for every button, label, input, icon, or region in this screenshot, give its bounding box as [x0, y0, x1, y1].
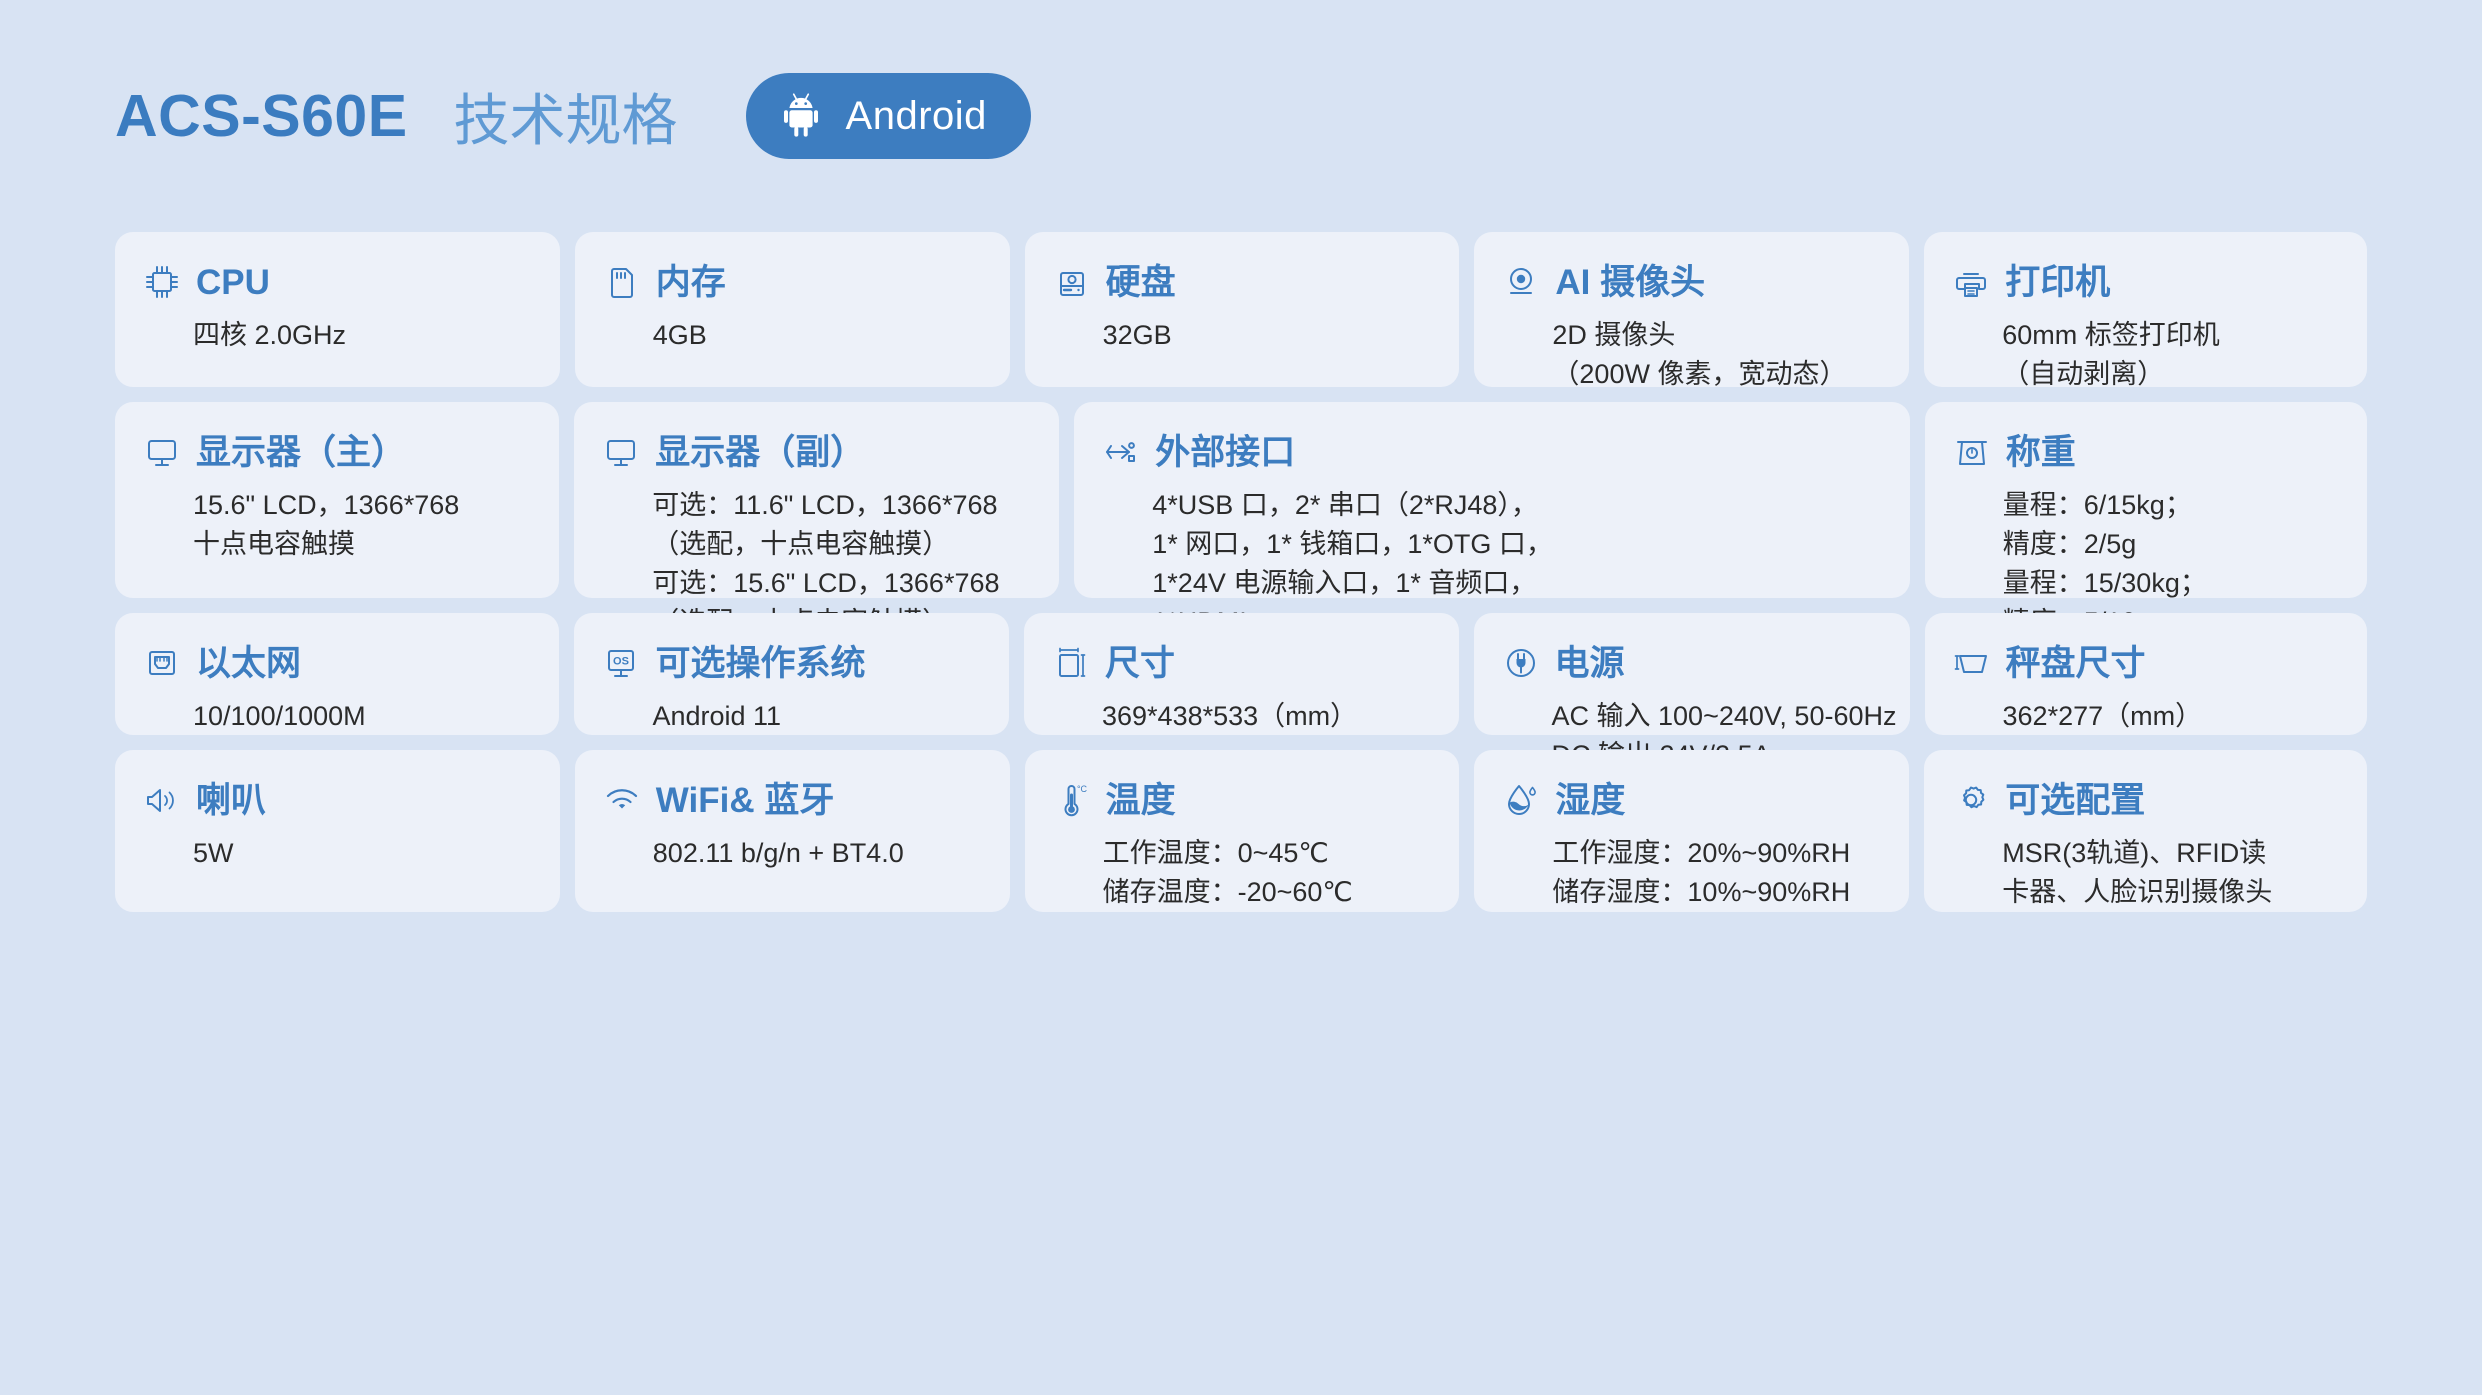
spec-card-optional-config: 可选配置 MSR(3轨道)、RFID读 卡器、人脸识别摄像头 — [1924, 750, 2367, 912]
card-title: 湿度 — [1555, 783, 1625, 818]
spec-line: 储存温度：-20~60℃ — [1103, 873, 1434, 912]
spec-card-temperature: °C 温度 工作温度：0~45℃ 储存温度：-20~60℃ — [1025, 750, 1460, 912]
spec-line: 10/100/1000M — [193, 697, 533, 736]
card-title: WiFi& 蓝牙 — [656, 783, 835, 818]
spec-card-weighing: 称重 量程：6/15kg； 精度：2/5g 量程：15/30kg； 精度：5/1… — [1925, 402, 2367, 598]
spec-line: MSR(3轨道)、RFID读 — [2002, 834, 2341, 873]
card-body: 4GB — [601, 316, 984, 355]
spec-line: 4*USB 口，2* 串口（2*RJ48）， — [1152, 486, 1883, 525]
os-screen-icon: OS — [600, 642, 642, 684]
android-icon — [784, 90, 828, 143]
card-title: 内存 — [656, 265, 726, 300]
card-header: AI 摄像头 — [1500, 258, 1883, 306]
card-body: 5W — [141, 834, 534, 873]
card-body: 15.6" LCD，1366*768 十点电容触摸 — [141, 486, 533, 564]
spec-line: 量程：6/15kg； — [2003, 486, 2341, 525]
card-title: 外部接口 — [1155, 435, 1295, 470]
spec-line: 60mm 标签打印机 — [2002, 316, 2341, 355]
card-body: 10/100/1000M — [141, 697, 533, 736]
spec-line: 5W — [193, 834, 534, 873]
card-header: 电源 — [1500, 639, 1884, 687]
card-title: 以太网 — [196, 646, 301, 681]
card-body: MSR(3轨道)、RFID读 卡器、人脸识别摄像头 — [1950, 834, 2341, 912]
hard-disk-icon — [1051, 261, 1093, 303]
spec-line: Android 11 — [652, 697, 983, 736]
card-body: 工作湿度：20%~90%RH 储存湿度：10%~90%RH — [1500, 834, 1883, 912]
spec-card-printer: 打印机 60mm 标签打印机 （自动剥离） — [1924, 232, 2367, 387]
spec-line: 精度：2/5g — [2003, 525, 2341, 564]
speaker-icon — [141, 779, 183, 821]
spec-row-1: CPU 四核 2.0GHz 内存 4GB — [115, 232, 2367, 387]
card-header: 外部接口 — [1100, 428, 1883, 476]
memory-card-icon — [601, 261, 643, 303]
spec-line: 2D 摄像头 — [1552, 316, 1883, 355]
card-header: 可选配置 — [1950, 776, 2341, 824]
spec-line: 四核 2.0GHz — [193, 316, 534, 355]
card-header: 称重 — [1951, 428, 2341, 476]
card-title: 可选配置 — [2005, 783, 2145, 818]
spec-card-power: 电源 AC 输入 100~240V, 50-60Hz DC 输出 24V/2.5… — [1474, 613, 1910, 735]
card-body: 802.11 b/g/n + BT4.0 — [601, 834, 984, 873]
spec-line: （自动剥离） — [2002, 355, 2341, 394]
cpu-chip-icon — [141, 261, 183, 303]
card-body: 2D 摄像头 （200W 像素，宽动态） — [1500, 316, 1883, 394]
power-plug-icon — [1500, 642, 1542, 684]
spec-line: 工作湿度：20%~90%RH — [1552, 834, 1883, 873]
spec-card-camera: AI 摄像头 2D 摄像头 （200W 像素，宽动态） — [1474, 232, 1909, 387]
spec-line: 工作温度：0~45℃ — [1103, 834, 1434, 873]
camera-icon — [1500, 261, 1542, 303]
dimensions-icon — [1050, 642, 1092, 684]
svg-text:OS: OS — [614, 656, 630, 668]
spec-row-2: 显示器（主） 15.6" LCD，1366*768 十点电容触摸 显示器（副） … — [115, 402, 2367, 598]
page-subtitle: 技术规格 — [454, 76, 678, 157]
os-badge-label: Android — [846, 94, 987, 139]
card-title: 称重 — [2006, 435, 2076, 470]
spec-line: （选配，十点电容触摸） — [652, 525, 1033, 564]
spec-line: 369*438*533（mm） — [1102, 697, 1433, 736]
os-badge: Android — [746, 73, 1031, 159]
spec-line: 1* 网口，1* 钱箱口，1*OTG 口， — [1152, 525, 1883, 564]
page-title: ACS-S60E — [115, 82, 408, 150]
spec-line: 15.6" LCD，1366*768 — [193, 486, 533, 525]
spec-card-ethernet: 以太网 10/100/1000M — [115, 613, 559, 735]
spec-card-os: OS 可选操作系统 Android 11 — [574, 613, 1009, 735]
svg-text:°C: °C — [1077, 784, 1088, 794]
weighing-scale-icon — [1951, 431, 1993, 473]
spec-card-speaker: 喇叭 5W — [115, 750, 560, 912]
scale-pan-icon — [1951, 642, 1993, 684]
spec-card-wireless: WiFi& 蓝牙 802.11 b/g/n + BT4.0 — [575, 750, 1010, 912]
card-body: 32GB — [1051, 316, 1434, 355]
monitor-icon — [141, 431, 183, 473]
card-title: 喇叭 — [196, 783, 266, 818]
wifi-icon — [601, 779, 643, 821]
spec-card-scale-pan: 秤盘尺寸 362*277（mm） — [1925, 613, 2367, 735]
card-title: CPU — [196, 265, 270, 300]
card-title: 温度 — [1106, 783, 1176, 818]
spec-line: 802.11 b/g/n + BT4.0 — [653, 834, 984, 873]
spec-card-memory: 内存 4GB — [575, 232, 1010, 387]
card-title: AI 摄像头 — [1555, 265, 1705, 300]
card-title: 打印机 — [2005, 265, 2110, 300]
card-header: 湿度 — [1500, 776, 1883, 824]
card-header: 打印机 — [1950, 258, 2341, 306]
spec-line: 储存湿度：10%~90%RH — [1552, 873, 1883, 912]
card-header: 喇叭 — [141, 776, 534, 824]
spec-card-secondary-display: 显示器（副） 可选：11.6" LCD，1366*768 （选配，十点电容触摸）… — [574, 402, 1059, 598]
card-header: WiFi& 蓝牙 — [601, 776, 984, 824]
card-header: 以太网 — [141, 639, 533, 687]
card-body: 60mm 标签打印机 （自动剥离） — [1950, 316, 2341, 394]
spec-card-dimensions: 尺寸 369*438*533（mm） — [1024, 613, 1459, 735]
thermometer-icon: °C — [1051, 779, 1093, 821]
card-title: 尺寸 — [1105, 646, 1175, 681]
spec-line: 4GB — [653, 316, 984, 355]
ethernet-port-icon — [141, 642, 183, 684]
spec-card-external-ports: 外部接口 4*USB 口，2* 串口（2*RJ48）， 1* 网口，1* 钱箱口… — [1074, 402, 1909, 598]
spec-line: 32GB — [1103, 316, 1434, 355]
spec-line: 1*24V 电源输入口，1* 音频口， — [1152, 564, 1883, 603]
spec-line: 卡器、人脸识别摄像头 — [2002, 873, 2341, 912]
printer-icon — [1950, 261, 1992, 303]
spec-line: AC 输入 100~240V, 50-60Hz — [1552, 697, 1884, 736]
card-title: 硬盘 — [1106, 265, 1176, 300]
spec-line: 十点电容触摸 — [193, 525, 533, 564]
spec-card-storage: 硬盘 32GB — [1025, 232, 1460, 387]
gear-icon — [1950, 779, 1992, 821]
spec-sheet-page: ACS-S60E 技术规格 Android — [0, 0, 2482, 1395]
card-header: 尺寸 — [1050, 639, 1433, 687]
card-title: 秤盘尺寸 — [2006, 646, 2146, 681]
card-title: 可选操作系统 — [655, 646, 865, 681]
spec-line: 362*277（mm） — [2003, 697, 2341, 736]
card-header: CPU — [141, 258, 534, 306]
monitor-icon — [600, 431, 642, 473]
card-body: Android 11 — [600, 697, 983, 736]
card-header: 秤盘尺寸 — [1951, 639, 2341, 687]
card-header: OS 可选操作系统 — [600, 639, 983, 687]
card-header: °C 温度 — [1051, 776, 1434, 824]
spec-row-4: 喇叭 5W WiFi& 蓝牙 802.11 b/g/n + BT4.0 — [115, 750, 2367, 912]
spec-card-humidity: 湿度 工作湿度：20%~90%RH 储存湿度：10%~90%RH — [1474, 750, 1909, 912]
spec-row-3: 以太网 10/100/1000M OS 可选操作系统 Android 11 — [115, 613, 2367, 735]
spec-line: 可选：15.6" LCD，1366*768 — [652, 564, 1033, 603]
card-header: 显示器（副） — [600, 428, 1033, 476]
card-header: 显示器（主） — [141, 428, 533, 476]
card-body: 369*438*533（mm） — [1050, 697, 1433, 736]
spec-line: 可选：11.6" LCD，1366*768 — [652, 486, 1033, 525]
spec-line: 量程：15/30kg； — [2003, 564, 2341, 603]
spec-card-main-display: 显示器（主） 15.6" LCD，1366*768 十点电容触摸 — [115, 402, 559, 598]
page-header: ACS-S60E 技术规格 Android — [115, 0, 2367, 232]
card-body: 工作温度：0~45℃ 储存温度：-20~60℃ — [1051, 834, 1434, 912]
card-header: 硬盘 — [1051, 258, 1434, 306]
spec-card-cpu: CPU 四核 2.0GHz — [115, 232, 560, 387]
card-title: 显示器（主） — [196, 435, 406, 470]
card-title: 显示器（副） — [655, 435, 865, 470]
usb-icon — [1100, 431, 1142, 473]
card-body: 362*277（mm） — [1951, 697, 2341, 736]
card-title: 电源 — [1555, 646, 1625, 681]
spec-line: （200W 像素，宽动态） — [1552, 355, 1883, 394]
humidity-drop-icon — [1500, 779, 1542, 821]
card-header: 内存 — [601, 258, 984, 306]
card-body: 四核 2.0GHz — [141, 316, 534, 355]
